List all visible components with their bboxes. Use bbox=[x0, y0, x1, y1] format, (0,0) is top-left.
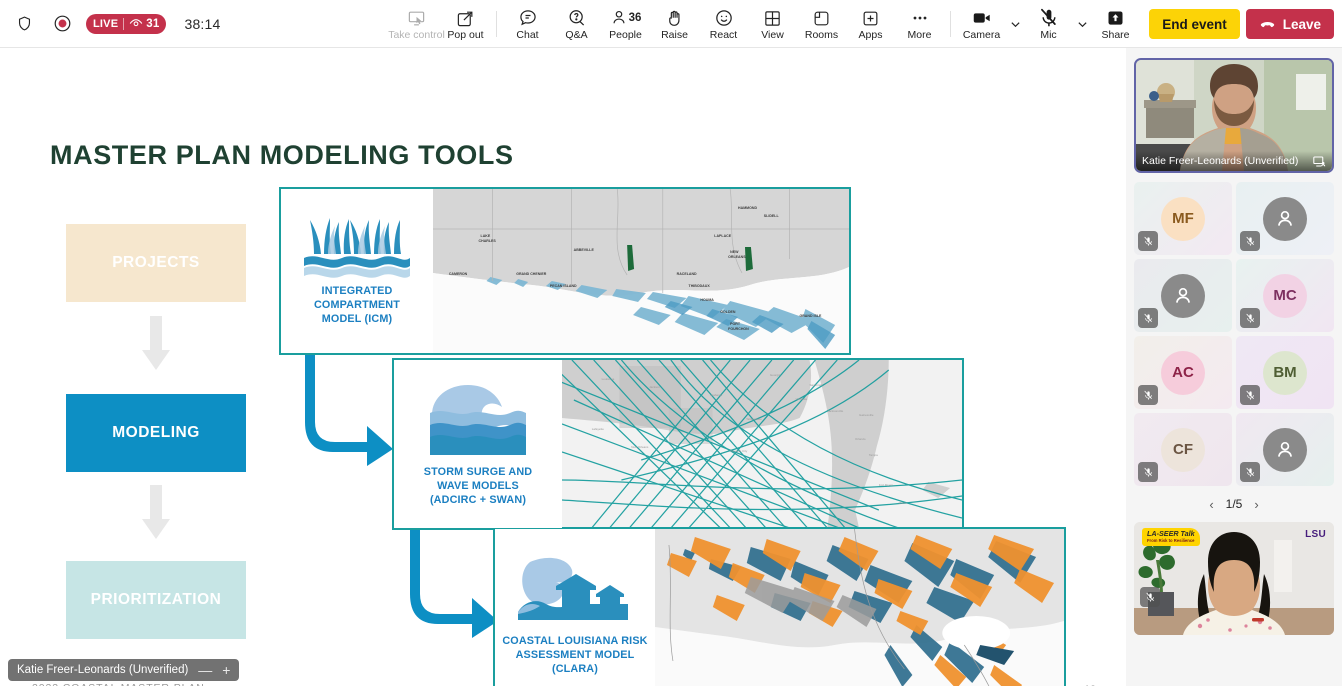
mic-off-icon bbox=[1140, 587, 1160, 607]
person-icon bbox=[1171, 284, 1195, 308]
avatar-initials: MC bbox=[1273, 287, 1296, 304]
avatar: AC bbox=[1161, 351, 1205, 395]
svg-text:ORLEANS: ORLEANS bbox=[728, 255, 746, 259]
rail-page-indicator: 1/5 bbox=[1226, 497, 1243, 511]
toolbar-label: View bbox=[761, 30, 784, 41]
participant-rail: Katie Freer-Leonards (Unverified) MF bbox=[1126, 48, 1342, 686]
toolbar-take-control[interactable]: Take control bbox=[392, 1, 441, 47]
share-screen-person-icon bbox=[1313, 156, 1326, 167]
panel-label-icm: INTEGRATED COMPARTMENT MODEL (ICM) bbox=[281, 189, 433, 353]
caption-line: WAVE MODELS bbox=[424, 479, 532, 493]
badge-title: LA-SEER Talk bbox=[1147, 530, 1195, 538]
avatar: BM bbox=[1263, 351, 1307, 395]
svg-text:PECAN ISLAND: PECAN ISLAND bbox=[550, 284, 577, 288]
shield-icon[interactable] bbox=[10, 10, 38, 38]
toolbar-rooms[interactable]: Rooms bbox=[797, 1, 846, 47]
toolbar-label: Rooms bbox=[805, 30, 838, 41]
toolbar-raise-hand[interactable]: Raise bbox=[650, 1, 699, 47]
svg-text:THIBODAUX: THIBODAUX bbox=[689, 284, 711, 288]
flow-label: MODELING bbox=[112, 424, 200, 442]
avatar-initials: CF bbox=[1173, 441, 1193, 458]
la-seer-talk-badge: LA-SEER Talk From Risk to Resilience bbox=[1142, 528, 1200, 546]
toolbar-label: Take control bbox=[388, 30, 445, 41]
toolbar-label: Mic bbox=[1040, 30, 1056, 41]
svg-text:Valdosta: Valdosta bbox=[796, 397, 808, 401]
camera-icon bbox=[971, 7, 993, 29]
svg-text:New Orleans: New Orleans bbox=[631, 445, 649, 449]
mic-off-icon bbox=[1240, 231, 1260, 251]
mic-off-icon bbox=[1240, 308, 1260, 328]
breakout-rooms-icon bbox=[812, 7, 831, 29]
zoom-in-button[interactable]: + bbox=[222, 663, 230, 677]
svg-text:SLIDELL: SLIDELL bbox=[764, 214, 780, 218]
live-label: LIVE bbox=[93, 18, 118, 30]
page-title: MASTER PLAN MODELING TOOLS bbox=[50, 140, 514, 171]
leave-button[interactable]: Leave bbox=[1246, 9, 1334, 39]
toolbar-actions: Take control Pop out bbox=[392, 0, 1140, 48]
toolbar-label: React bbox=[710, 30, 737, 41]
svg-text:Tallahassee: Tallahassee bbox=[746, 417, 762, 421]
viewer-count: 31 bbox=[146, 18, 159, 30]
toolbar-chat[interactable]: Chat bbox=[503, 1, 552, 47]
participant-tile[interactable]: AC bbox=[1134, 336, 1232, 409]
take-control-icon bbox=[407, 7, 426, 29]
avatar-initials: BM bbox=[1273, 364, 1296, 381]
model-panel-icm: LAKECHARLES ABBEVILLENEWORLEANS HAMMONDS… bbox=[279, 187, 851, 355]
toolbar-mic[interactable]: Mic bbox=[1024, 1, 1073, 47]
pop-out-icon bbox=[456, 7, 475, 29]
louisiana-coast-landloss-map: LAKECHARLES ABBEVILLENEWORLEANS HAMMONDS… bbox=[433, 189, 849, 353]
avatar: CF bbox=[1161, 428, 1205, 472]
elbow-arrow-icon-2 bbox=[410, 516, 500, 640]
svg-text:Georgia: Georgia bbox=[770, 373, 781, 377]
model-panel-clara: COASTAL LOUISIANA RISK ASSESSMENT MODEL … bbox=[493, 527, 1066, 686]
caption-line: (CLARA) bbox=[502, 662, 647, 676]
svg-text:FOURCHON: FOURCHON bbox=[728, 327, 749, 331]
svg-text:CHARLES: CHARLES bbox=[479, 239, 497, 243]
active-speaker-name-bar: Katie Freer-Leonards (Unverified) bbox=[1136, 151, 1332, 171]
flow-box-prioritization: PRIORITIZATION bbox=[66, 561, 246, 639]
svg-text:HAMMOND: HAMMOND bbox=[738, 206, 757, 210]
elbow-arrow-icon-1 bbox=[305, 344, 395, 468]
caption-line: COMPARTMENT bbox=[314, 298, 400, 312]
share-screen-icon bbox=[1105, 7, 1126, 29]
person-icon bbox=[1273, 438, 1297, 462]
toolbar-label: Camera bbox=[963, 30, 1000, 41]
toolbar-pop-out[interactable]: Pop out bbox=[441, 1, 490, 47]
avatar bbox=[1263, 197, 1307, 241]
leave-label: Leave bbox=[1283, 17, 1321, 32]
flow-box-projects: PROJECTS bbox=[66, 224, 246, 302]
phone-hangup-icon bbox=[1259, 16, 1276, 33]
toolbar-left-group: LIVE 31 38:14 bbox=[0, 10, 221, 38]
svg-text:GRAND ISLE: GRAND ISLE bbox=[799, 314, 822, 318]
record-icon[interactable] bbox=[48, 10, 76, 38]
toolbar-right-group: End event Leave bbox=[1149, 0, 1334, 48]
qa-icon bbox=[567, 7, 587, 29]
svg-text:Savannah: Savannah bbox=[810, 383, 824, 387]
toolbar-view[interactable]: View bbox=[748, 1, 797, 47]
caption-line: STORM SURGE AND bbox=[424, 465, 532, 479]
svg-text:Fort Myers: Fort Myers bbox=[879, 483, 894, 487]
mic-muted-icon bbox=[1038, 7, 1060, 29]
gulf-storm-tracks-map: GeorgiaSavannah ValdostaJacksonville Gai… bbox=[562, 360, 962, 528]
active-speaker-tile[interactable]: Katie Freer-Leonards (Unverified) bbox=[1134, 58, 1334, 173]
svg-text:Tampa: Tampa bbox=[869, 453, 878, 457]
participant-tile[interactable]: BM bbox=[1236, 336, 1334, 409]
down-arrow-icon-1 bbox=[140, 316, 172, 372]
avatar-initials: AC bbox=[1172, 364, 1194, 381]
toolbar-label: Pop out bbox=[447, 30, 483, 41]
svg-text:GOLDEN: GOLDEN bbox=[720, 310, 736, 314]
presentation-slide: MASTER PLAN MODELING TOOLS PROJECTS MODE… bbox=[0, 48, 1126, 686]
chevron-right-icon[interactable]: › bbox=[1254, 497, 1258, 512]
mic-off-icon bbox=[1240, 462, 1260, 482]
panel-label-clara: COASTAL LOUISIANA RISK ASSESSMENT MODEL … bbox=[495, 529, 655, 686]
caption-line: (ADCIRC + SWAN) bbox=[424, 493, 532, 507]
marsh-grass-icon bbox=[302, 216, 412, 278]
toolbar-share[interactable]: Share bbox=[1091, 1, 1140, 47]
toolbar-camera[interactable]: Camera bbox=[957, 1, 1006, 47]
people-icon: 36 bbox=[610, 7, 642, 29]
raise-hand-icon bbox=[665, 7, 684, 29]
mic-chevron-down-icon[interactable] bbox=[1073, 4, 1091, 44]
participant-tile[interactable] bbox=[1236, 413, 1334, 486]
live-divider bbox=[123, 18, 124, 30]
participant-grid: MF bbox=[1134, 182, 1334, 486]
svg-text:Jacksonville: Jacksonville bbox=[827, 409, 843, 413]
toolbar-apps[interactable]: Apps bbox=[846, 1, 895, 47]
toolbar-qa[interactable]: Q&A bbox=[552, 1, 601, 47]
rail-pager: ‹ 1/5 › bbox=[1134, 490, 1334, 518]
view-grid-icon bbox=[763, 7, 782, 29]
svg-text:NEW: NEW bbox=[730, 250, 739, 254]
avatar bbox=[1263, 428, 1307, 472]
hurricane-houses-icon bbox=[516, 554, 634, 628]
svg-text:HOUMA: HOUMA bbox=[700, 298, 714, 302]
toolbar-label: Raise bbox=[661, 30, 688, 41]
react-smiley-icon bbox=[714, 7, 734, 29]
panel-caption-clara: COASTAL LOUISIANA RISK ASSESSMENT MODEL … bbox=[502, 634, 647, 676]
mic-off-icon bbox=[1240, 385, 1260, 405]
eye-icon bbox=[129, 18, 143, 29]
flow-label: PROJECTS bbox=[112, 254, 200, 272]
panel-label-storm-surge: STORM SURGE AND WAVE MODELS (ADCIRC + SW… bbox=[394, 360, 562, 528]
participant-tile[interactable]: CF bbox=[1134, 413, 1232, 486]
avatar bbox=[1161, 274, 1205, 318]
lsu-logo: LSU bbox=[1305, 529, 1326, 540]
flow-label: PRIORITIZATION bbox=[91, 591, 222, 609]
toolbar-divider bbox=[496, 11, 497, 37]
teams-meeting-window: LIVE 31 38:14 bbox=[0, 0, 1342, 686]
panel-caption-storm-surge: STORM SURGE AND WAVE MODELS (ADCIRC + SW… bbox=[424, 465, 532, 507]
svg-text:Lafayette: Lafayette bbox=[592, 427, 605, 431]
participant-tile[interactable] bbox=[1134, 259, 1232, 332]
live-status-badge: LIVE 31 bbox=[86, 14, 166, 34]
mic-off-icon bbox=[1138, 462, 1158, 482]
mic-off-icon bbox=[1138, 385, 1158, 405]
caption-line: COASTAL LOUISIANA RISK bbox=[502, 634, 647, 648]
apps-plus-icon bbox=[861, 7, 880, 29]
mic-off-icon bbox=[1138, 231, 1158, 251]
down-arrow-icon-2 bbox=[140, 485, 172, 541]
presenter-name-chip: Katie Freer-Leonards (Unverified) — + bbox=[8, 659, 239, 681]
people-count: 36 bbox=[629, 12, 642, 24]
svg-text:GRAND CHENIER: GRAND CHENIER bbox=[516, 272, 546, 276]
toolbar-label: People bbox=[609, 30, 642, 41]
svg-text:CAMERON: CAMERON bbox=[449, 272, 468, 276]
badge-subtitle: From Risk to Resilience bbox=[1147, 538, 1195, 544]
toolbar-label: Chat bbox=[516, 30, 538, 41]
toolbar-label: Apps bbox=[859, 30, 883, 41]
chat-icon bbox=[518, 7, 538, 29]
mic-off-icon bbox=[1138, 308, 1158, 328]
caption-line: ASSESSMENT MODEL bbox=[502, 648, 647, 662]
presenter-name: Katie Freer-Leonards (Unverified) bbox=[17, 664, 188, 676]
toolbar-more[interactable]: More bbox=[895, 1, 944, 47]
flow-box-modeling: MODELING bbox=[66, 394, 246, 472]
zoom-out-button[interactable]: — bbox=[198, 663, 212, 677]
svg-text:Orlando: Orlando bbox=[855, 437, 866, 441]
slide-footer-text: 2023 COASTAL MASTER PLAN bbox=[32, 682, 205, 686]
end-event-button[interactable]: End event bbox=[1149, 9, 1240, 39]
svg-text:RACELAND: RACELAND bbox=[677, 272, 697, 276]
participant-tile[interactable] bbox=[1236, 182, 1334, 255]
meeting-timer: 38:14 bbox=[184, 16, 220, 32]
person-icon bbox=[1273, 207, 1297, 231]
chevron-left-icon[interactable]: ‹ bbox=[1209, 497, 1213, 512]
active-speaker-name: Katie Freer-Leonards (Unverified) bbox=[1142, 155, 1298, 167]
avatar: MC bbox=[1263, 274, 1307, 318]
svg-text:PORT: PORT bbox=[730, 322, 741, 326]
participant-tile[interactable]: MF bbox=[1134, 182, 1232, 255]
toolbar-label: Share bbox=[1101, 30, 1129, 41]
more-ellipsis-icon bbox=[910, 7, 930, 29]
caption-line: INTEGRATED bbox=[314, 284, 400, 298]
svg-text:Miami: Miami bbox=[899, 501, 907, 505]
meeting-toolbar: LIVE 31 38:14 bbox=[0, 0, 1342, 48]
svg-text:Jackson: Jackson bbox=[649, 385, 660, 389]
ocean-wave-icon bbox=[422, 381, 534, 459]
toolbar-divider-2 bbox=[950, 11, 951, 37]
svg-text:LAKE: LAKE bbox=[481, 234, 491, 238]
camera-chevron-down-icon[interactable] bbox=[1006, 4, 1024, 44]
toolbar-label: Q&A bbox=[565, 30, 587, 41]
panel-caption-icm: INTEGRATED COMPARTMENT MODEL (ICM) bbox=[314, 284, 400, 326]
svg-text:Panama City: Panama City bbox=[730, 449, 747, 453]
shared-content-stage[interactable]: MASTER PLAN MODELING TOOLS PROJECTS MODE… bbox=[0, 48, 1126, 686]
svg-text:Gainesville: Gainesville bbox=[859, 413, 874, 417]
model-panel-storm-surge: GeorgiaSavannah ValdostaJacksonville Gai… bbox=[392, 358, 964, 530]
participant-tile[interactable]: MC bbox=[1236, 259, 1334, 332]
svg-text:Alabama: Alabama bbox=[711, 393, 723, 397]
toolbar-people[interactable]: 36 People bbox=[601, 1, 650, 47]
toolbar-react[interactable]: React bbox=[699, 1, 748, 47]
svg-text:ABBEVILLE: ABBEVILLE bbox=[574, 248, 595, 252]
toolbar-label: More bbox=[908, 30, 932, 41]
louisiana-flood-risk-map bbox=[655, 529, 1064, 686]
caption-line: MODEL (ICM) bbox=[314, 312, 400, 326]
svg-text:LAPLACE: LAPLACE bbox=[714, 234, 731, 238]
avatar-initials: MF bbox=[1172, 210, 1194, 227]
participant-video-tile-bottom[interactable]: LA-SEER Talk From Risk to Resilience LSU bbox=[1134, 522, 1334, 635]
svg-text:Louisiana: Louisiana bbox=[602, 377, 615, 381]
avatar: MF bbox=[1161, 197, 1205, 241]
viewer-count-group: 31 bbox=[129, 18, 159, 30]
